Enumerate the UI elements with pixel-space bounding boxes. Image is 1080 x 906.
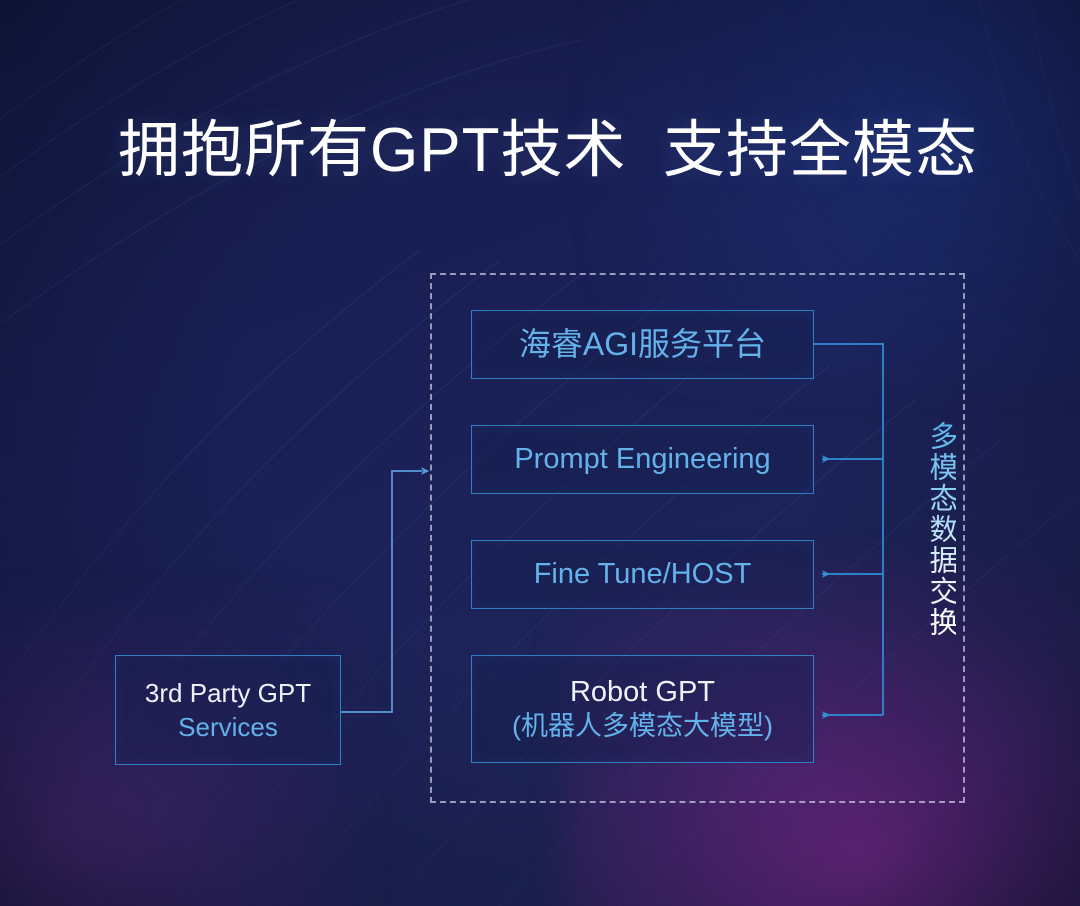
- node-robot-label-primary: Robot GPT: [570, 675, 715, 709]
- node-prompt-label: Prompt Engineering: [514, 442, 770, 476]
- side-label-multimodal-data-exchange: 多模态数据交换: [912, 421, 956, 638]
- node-haiRui-agi-platform[interactable]: 海睿AGI服务平台: [471, 310, 814, 379]
- node-robot-gpt[interactable]: Robot GPT (机器人多模态大模型): [471, 655, 814, 763]
- node-third-party-gpt-services[interactable]: 3rd Party GPT Services: [115, 655, 341, 765]
- slide-canvas: 拥抱所有GPT技术 支持全模态: [0, 0, 1080, 906]
- node-finetune-label: Fine Tune/HOST: [534, 557, 752, 591]
- node-fine-tune-host[interactable]: Fine Tune/HOST: [471, 540, 814, 609]
- node-prompt-engineering[interactable]: Prompt Engineering: [471, 425, 814, 494]
- node-thirdparty-label-primary: 3rd Party GPT: [145, 678, 311, 709]
- node-platform-label: 海睿AGI服务平台: [519, 326, 766, 364]
- node-thirdparty-label-secondary: Services: [178, 712, 278, 743]
- node-robot-label-secondary: (机器人多模态大模型): [512, 711, 773, 743]
